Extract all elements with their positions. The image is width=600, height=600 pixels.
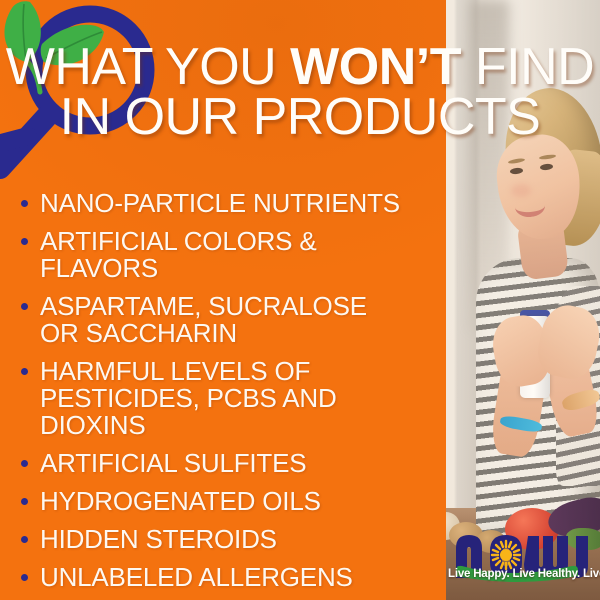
list-item: ASPARTAME, SUCRALOSE OR SACCHARIN	[18, 293, 438, 347]
list-item: NANO-PARTICLE NUTRIENTS	[18, 190, 438, 217]
list-item-line-1: ARTIFICIAL COLORS & FLAVORS	[40, 226, 317, 283]
list-item: ARTIFICIAL SULFITES	[18, 450, 438, 477]
list-item-line-1: NANO-PARTICLE NUTRIENTS	[40, 188, 400, 218]
promotional-poster: WHAT YOU WON’T FIND IN OUR PRODUCTS NANO…	[0, 0, 600, 600]
list-item-line-2: PESTICIDES, PCBS AND DIOXINS	[40, 385, 438, 439]
list-item: HIDDEN STEROIDS	[18, 526, 438, 553]
page-title: WHAT YOU WON’T FIND IN OUR PRODUCTS	[0, 42, 600, 142]
brand-tagline: Live Happy. Live Healthy. Live NOW.	[448, 568, 598, 580]
list-item: HYDROGENATED OILS	[18, 488, 438, 515]
list-item-line-1: UNLABELED ALLERGENS	[40, 562, 353, 592]
list-item-line-1: ARTIFICIAL SULFITES	[40, 448, 306, 478]
logo-sun-icon	[492, 541, 520, 569]
list-item-line-2: OR SACCHARIN	[40, 320, 438, 347]
list-item-line-1: ASPARTAME, SUCRALOSE	[40, 291, 367, 321]
list-item: UNLABELED ALLERGENS	[18, 564, 438, 591]
list-item-line-1: HYDROGENATED OILS	[40, 486, 321, 516]
list-item-line-1: HARMFUL LEVELS OF	[40, 356, 310, 386]
headline-line-2: IN OUR PRODUCTS	[0, 92, 600, 142]
excluded-ingredients-list: NANO-PARTICLE NUTRIENTS ARTIFICIAL COLOR…	[18, 190, 438, 600]
list-item-line-1: HIDDEN STEROIDS	[40, 524, 277, 554]
list-item: ARTIFICIAL COLORS & FLAVORS	[18, 228, 438, 282]
list-item: HARMFUL LEVELS OF PESTICIDES, PCBS AND D…	[18, 358, 438, 439]
